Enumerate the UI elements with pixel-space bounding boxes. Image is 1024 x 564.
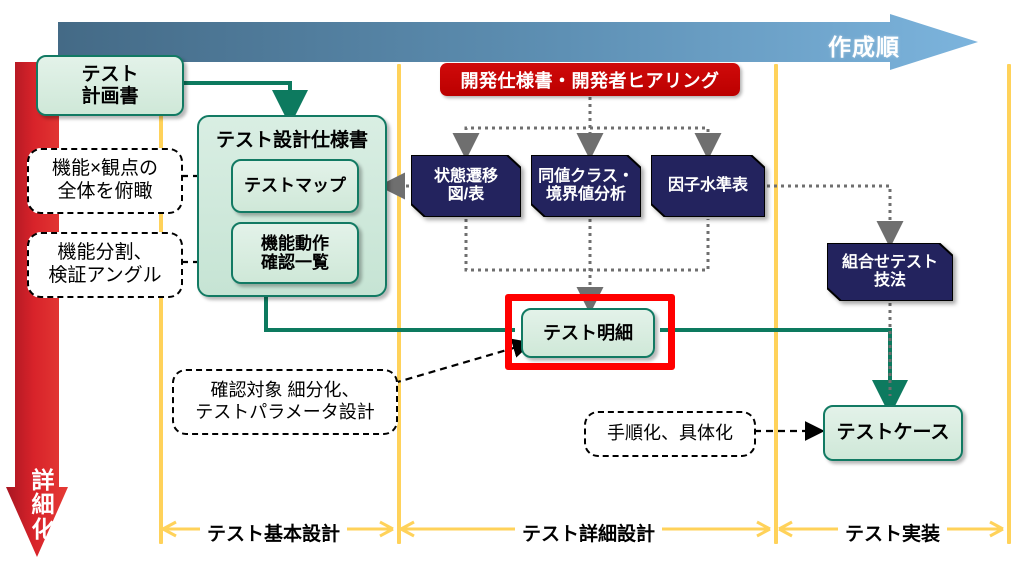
callout-function-split-line1: 機能分割、: [48, 242, 161, 265]
technique-combination-test-line2: 技法: [842, 272, 938, 290]
technique-equivalence-boundary-line1: 同値クラス・: [538, 168, 634, 186]
phase-divider-3: [774, 64, 778, 544]
callout-function-split: 機能分割、 検証アングル: [27, 232, 183, 298]
callout-overview-line1: 機能×観点の: [52, 158, 158, 181]
technique-state-transition-label: 状態遷移 図/表: [411, 155, 521, 217]
creation-order-banner: 作成順: [58, 14, 978, 70]
technique-combination-test-label: 組合せテスト 技法: [827, 243, 953, 301]
detailing-arrow-label: 詳 細 化: [28, 468, 58, 541]
detailing-char-3: 化: [28, 517, 58, 541]
phase-divider-4: [1007, 64, 1011, 544]
technique-equivalence-boundary-label: 同値クラス・ 境界値分析: [531, 155, 641, 217]
callout-test-parameter: 確認対象 細分化、 テストパラメータ設計: [172, 369, 398, 435]
doc-test-plan-line1: テスト: [81, 64, 138, 85]
doc-test-design-spec[interactable]: テスト設計仕様書 テストマップ 機能動作 確認一覧: [197, 115, 387, 297]
technique-state-transition[interactable]: 状態遷移 図/表: [411, 155, 521, 217]
detailing-direction-arrow: 詳 細 化: [6, 62, 68, 557]
dev-spec-source-header: 開発仕様書・開発者ヒアリング: [440, 63, 740, 96]
doc-test-detail[interactable]: テスト明細: [521, 308, 655, 358]
diagram-canvas: 作成順 詳 細 化: [0, 0, 1024, 564]
technique-factor-level-table-line1: 因子水準表: [668, 177, 748, 195]
callout-test-parameter-line2: テストパラメータ設計: [195, 402, 374, 424]
doc-test-case[interactable]: テストケース: [823, 405, 963, 461]
technique-factor-level-table[interactable]: 因子水準表: [651, 155, 765, 217]
technique-equivalence-boundary[interactable]: 同値クラス・ 境界値分析: [531, 155, 641, 217]
callout-overview: 機能×観点の 全体を俯瞰: [27, 148, 183, 214]
phase-label-basic-design: テスト基本設計: [200, 519, 347, 546]
banner-label: 作成順: [828, 28, 900, 62]
callout-procedure: 手順化、具体化: [584, 411, 756, 457]
technique-combination-test-line1: 組合せテスト: [842, 254, 938, 272]
doc-function-check-line1: 機能動作: [261, 234, 329, 253]
doc-test-map[interactable]: テストマップ: [231, 159, 359, 213]
technique-state-transition-line2: 図/表: [434, 186, 498, 204]
doc-test-plan[interactable]: テスト 計画書: [36, 55, 184, 116]
doc-test-plan-line2: 計画書: [81, 86, 138, 107]
detailing-char-2: 細: [28, 492, 58, 516]
callout-overview-line2: 全体を俯瞰: [52, 181, 158, 204]
phase-divider-1: [159, 64, 163, 544]
technique-equivalence-boundary-line2: 境界値分析: [538, 186, 634, 204]
doc-test-map-label: テストマップ: [244, 176, 346, 195]
technique-state-transition-line1: 状態遷移: [434, 168, 498, 186]
doc-test-design-spec-title: テスト設計仕様書: [199, 125, 385, 152]
doc-test-detail-label: テスト明細: [543, 323, 633, 343]
callout-test-parameter-line1: 確認対象 細分化、: [195, 380, 374, 402]
detailing-char-1: 詳: [28, 468, 58, 492]
technique-combination-test[interactable]: 組合せテスト 技法: [827, 243, 953, 301]
phase-label-detail-design: テスト詳細設計: [515, 519, 662, 546]
callout-function-split-line2: 検証アングル: [48, 265, 161, 288]
technique-factor-level-table-label: 因子水準表: [651, 155, 765, 217]
doc-function-check-line2: 確認一覧: [261, 253, 329, 272]
doc-test-case-label: テストケース: [836, 422, 949, 443]
doc-function-check-list[interactable]: 機能動作 確認一覧: [231, 222, 359, 284]
phase-label-implementation: テスト実装: [838, 519, 947, 546]
callout-procedure-line1: 手順化、具体化: [607, 423, 733, 445]
phase-divider-2: [397, 64, 401, 544]
